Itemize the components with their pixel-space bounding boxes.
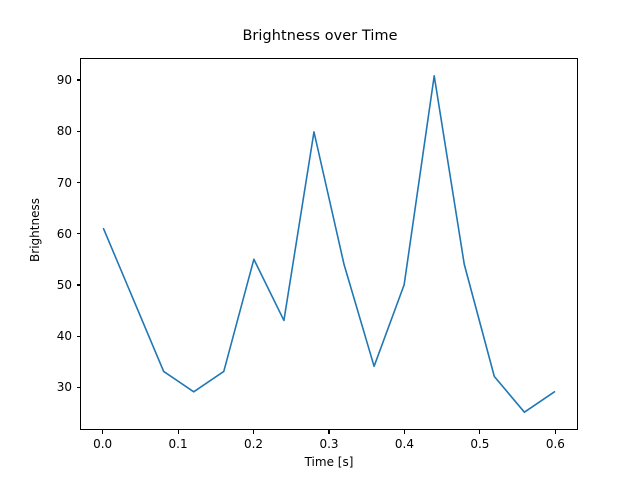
x-tick-label: 0.3 (319, 437, 338, 451)
y-tick-label: 60 (40, 227, 72, 241)
x-tick-label: 0.5 (470, 437, 489, 451)
x-tick-mark (404, 430, 405, 434)
x-tick-mark (253, 430, 254, 434)
x-tick-mark (479, 430, 480, 434)
y-tick-mark (77, 182, 81, 183)
chart-title: Brightness over Time (0, 28, 640, 44)
x-tick-mark (328, 430, 329, 434)
x-axis-label: Time [s] (80, 455, 578, 469)
y-tick-mark (77, 336, 81, 337)
plot-axes-area (80, 58, 578, 430)
y-tick-label: 30 (40, 380, 72, 394)
y-tick-label: 80 (40, 124, 72, 138)
x-tick-mark (555, 430, 556, 434)
y-tick-mark (77, 131, 81, 132)
y-axis-label: Brightness (26, 44, 44, 416)
chart-figure: Brightness over Time 30405060708090 0.00… (0, 0, 640, 480)
y-tick-mark (77, 387, 81, 388)
x-tick-label: 0.1 (169, 437, 188, 451)
x-tick-label: 0.4 (395, 437, 414, 451)
x-tick-label: 0.6 (546, 437, 565, 451)
y-tick-label: 50 (40, 278, 72, 292)
y-tick-mark (77, 284, 81, 285)
x-tick-label: 0.2 (244, 437, 263, 451)
y-tick-mark (77, 233, 81, 234)
y-tick-mark (77, 79, 81, 80)
line-series-svg (81, 59, 577, 429)
x-tick-mark (178, 430, 179, 434)
x-tick-label: 0.0 (93, 437, 112, 451)
y-tick-label: 70 (40, 176, 72, 190)
brightness-line-series (104, 76, 555, 412)
y-tick-label: 90 (40, 73, 72, 87)
y-tick-label: 40 (40, 329, 72, 343)
x-tick-mark (102, 430, 103, 434)
